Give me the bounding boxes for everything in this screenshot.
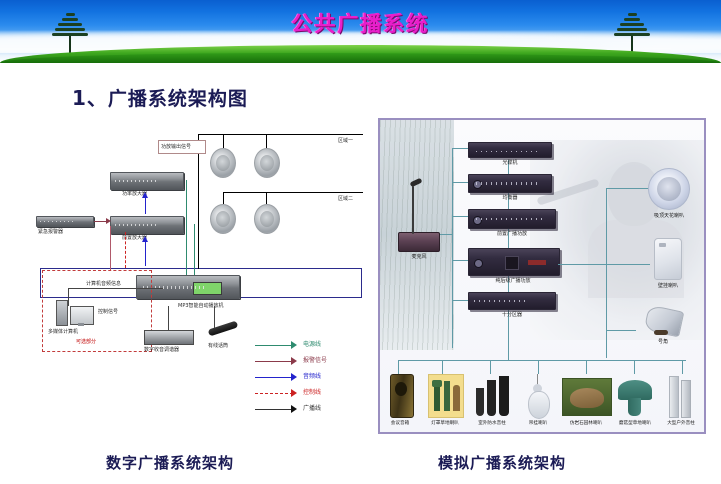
pendant-speaker-icon bbox=[528, 391, 550, 419]
label-pre-broadcast-amp: 前置广播功放 bbox=[488, 230, 536, 237]
horn-mount-icon bbox=[654, 330, 668, 335]
label-conference-speaker: 会议音箱 bbox=[391, 420, 409, 426]
power-line bbox=[186, 180, 187, 275]
label-cd-player: 光碟机 bbox=[490, 159, 530, 166]
bottom-drop-line bbox=[634, 360, 635, 374]
broadcast-line bbox=[223, 134, 224, 148]
label-ten-zone-selector: 十分区器 bbox=[490, 311, 534, 318]
conference-speaker-icon bbox=[390, 374, 414, 418]
lamp-garden-speaker-item: 灯罩草地喇叭 bbox=[428, 374, 462, 434]
label-horn-speaker: 号角 bbox=[652, 338, 674, 345]
legend-label: 控制线 bbox=[303, 387, 321, 396]
right-diagram-caption: 模拟广播系统架构 bbox=[438, 452, 566, 473]
label-wall-speaker: 壁挂喇叭 bbox=[652, 282, 684, 289]
legend-item: 控制线 bbox=[255, 386, 375, 402]
microphone-gooseneck bbox=[412, 186, 414, 234]
zone-out-line bbox=[606, 188, 650, 189]
legend-item: 广播线 bbox=[255, 402, 375, 418]
mushroom-garden-speaker-item: 蘑菇型草地喇叭 bbox=[614, 374, 656, 434]
control-line bbox=[125, 232, 126, 268]
label-microphone: 麦克风 bbox=[402, 253, 436, 260]
legend-label: 音频线 bbox=[303, 371, 321, 380]
section-number: 1、 bbox=[72, 86, 108, 110]
alarm-signal-line bbox=[110, 226, 111, 270]
legend-label: 报警信号 bbox=[303, 355, 327, 364]
alarm-arrow-icon bbox=[106, 218, 111, 224]
emergency-alarm-unit bbox=[36, 216, 94, 227]
zone-out-line bbox=[606, 264, 650, 265]
lamp-garden-speaker-icon bbox=[428, 374, 464, 418]
digital-tuner-unit bbox=[144, 330, 194, 345]
label-multimedia-computer: 多媒体计算机 bbox=[48, 328, 78, 335]
label-mp3-player: MP3智能自动播放机 bbox=[178, 302, 224, 309]
audio-arrow-icon bbox=[142, 236, 148, 242]
ceiling-speaker-icon bbox=[648, 168, 690, 210]
label-power-broadcast-amp: 纯后级广播功放 bbox=[484, 277, 542, 284]
large-outdoor-column-item: 大型户外音柱 bbox=[666, 374, 696, 434]
label-pendant-speaker: 吊挂喇叭 bbox=[529, 420, 547, 426]
legend-label: 广播线 bbox=[303, 403, 321, 412]
broadcast-line bbox=[266, 134, 267, 148]
audio-line bbox=[214, 306, 215, 328]
legend-label: 电源线 bbox=[303, 339, 321, 348]
label-optional-section: 可选部分 bbox=[76, 338, 96, 345]
rock-garden-speaker-icon bbox=[562, 378, 612, 416]
label-equalizer: 均衡器 bbox=[490, 194, 530, 201]
wired-microphone-icon bbox=[208, 321, 239, 337]
ten-zone-selector-unit bbox=[468, 292, 556, 310]
cd-player-unit bbox=[468, 142, 552, 158]
legend-item: 音频线 bbox=[255, 370, 375, 386]
label-outdoor-waterproof-column: 室外防水音柱 bbox=[478, 420, 506, 426]
zone-out-line bbox=[606, 330, 636, 331]
label-large-outdoor-column: 大型户外音柱 bbox=[667, 420, 695, 426]
bottom-drop-line bbox=[398, 360, 399, 374]
audio-line bbox=[145, 238, 146, 266]
section-heading: 1、广播系统架构图 bbox=[72, 82, 248, 111]
computer-tower-icon bbox=[56, 300, 68, 326]
rock-garden-speaker-item: 仿岩石园林喇叭 bbox=[562, 374, 610, 434]
computer-audio-line bbox=[68, 288, 69, 306]
monitor-stand-icon bbox=[78, 323, 84, 326]
ceiling-speaker-icon bbox=[254, 148, 280, 178]
bottom-drop-line bbox=[490, 360, 491, 374]
broadcast-line bbox=[223, 192, 363, 193]
label-zone-two: 区域二 bbox=[338, 195, 353, 202]
page-title: 公共广播系统 bbox=[0, 8, 721, 38]
audio-arrow-icon bbox=[142, 192, 148, 198]
bottom-drop-line bbox=[442, 360, 443, 374]
pendant-speaker-item: 吊挂喇叭 bbox=[522, 374, 554, 434]
left-diagram-caption: 数字广播系统架构 bbox=[106, 452, 234, 473]
zone-out-line bbox=[606, 188, 607, 358]
page-banner: 公共广播系统 bbox=[0, 0, 721, 63]
label-ceiling-speaker: 吸顶天花喇叭 bbox=[646, 212, 692, 219]
arrow-icon bbox=[291, 373, 297, 381]
legend-item: 报警信号 bbox=[255, 354, 375, 370]
bottom-drop-line bbox=[682, 360, 683, 374]
label-wired-microphone: 有线话筒 bbox=[208, 342, 228, 349]
mushroom-garden-speaker-icon bbox=[618, 380, 652, 400]
outdoor-waterproof-column-item: 室外防水音柱 bbox=[474, 374, 510, 434]
legend-item: 电源线 bbox=[255, 338, 375, 354]
pre-broadcast-amp-unit bbox=[468, 209, 556, 229]
zone-out-line bbox=[558, 264, 606, 265]
broadcast-line bbox=[198, 134, 199, 269]
arrow-icon bbox=[291, 389, 297, 397]
equalizer-unit bbox=[468, 174, 552, 193]
power-line bbox=[194, 224, 195, 276]
arrow-icon bbox=[291, 405, 297, 413]
label-digital-tuner: 数字收音调谐器 bbox=[144, 346, 179, 353]
ceiling-speaker-icon bbox=[254, 204, 280, 234]
label-control-signal: 控制信号 bbox=[98, 308, 118, 315]
analog-broadcast-diagram: 光碟机 均衡器 前置广播功放 纯后级广播功放 十分区器 麦克风 吸顶天花喇叭 壁… bbox=[378, 118, 706, 434]
label-zone-one: 区域一 bbox=[338, 137, 353, 144]
ceiling-speaker-icon bbox=[210, 148, 236, 178]
arrow-icon bbox=[291, 357, 297, 365]
bottom-drop-line bbox=[586, 360, 587, 374]
digital-broadcast-diagram: 功放输出信号 区域一 区域二 功率放大器 前置放大器 紧急报警器 MP3智能自动… bbox=[18, 120, 368, 430]
label-mushroom-garden-speaker: 蘑菇型草地喇叭 bbox=[619, 420, 651, 426]
bottom-bus-line bbox=[508, 348, 509, 360]
ceiling-speaker-icon bbox=[210, 204, 236, 234]
label-lamp-garden-speaker: 灯罩草地喇叭 bbox=[431, 420, 459, 426]
arrow-icon bbox=[291, 341, 297, 349]
bottom-drop-line bbox=[538, 360, 539, 374]
wall-speaker-icon bbox=[654, 238, 682, 280]
legend: 电源线 报警信号 音频线 控制线 广播线 bbox=[255, 338, 375, 418]
broadcast-line bbox=[266, 192, 267, 204]
outdoor-waterproof-column-icon bbox=[476, 388, 484, 416]
large-outdoor-column-icon bbox=[669, 376, 679, 418]
power-amplifier-unit bbox=[110, 172, 184, 190]
audio-line bbox=[168, 306, 169, 330]
broadcast-line bbox=[223, 192, 224, 204]
label-emergency-alarm: 紧急报警器 bbox=[38, 228, 63, 235]
pre-amplifier-unit bbox=[110, 216, 184, 234]
bus-line bbox=[452, 148, 453, 348]
label-rock-garden-speaker: 仿岩石园林喇叭 bbox=[570, 420, 602, 426]
label-computer-audio-info: 计算机音频信息 bbox=[86, 280, 121, 287]
desktop-microphone-base bbox=[398, 232, 440, 252]
computer-audio-line bbox=[68, 288, 163, 289]
power-broadcast-amp-unit bbox=[468, 248, 560, 276]
label-power-amp-output: 功放输出信号 bbox=[161, 143, 191, 150]
conference-speaker-item: 会议音箱 bbox=[386, 374, 414, 434]
section-title: 广播系统架构图 bbox=[108, 88, 248, 110]
